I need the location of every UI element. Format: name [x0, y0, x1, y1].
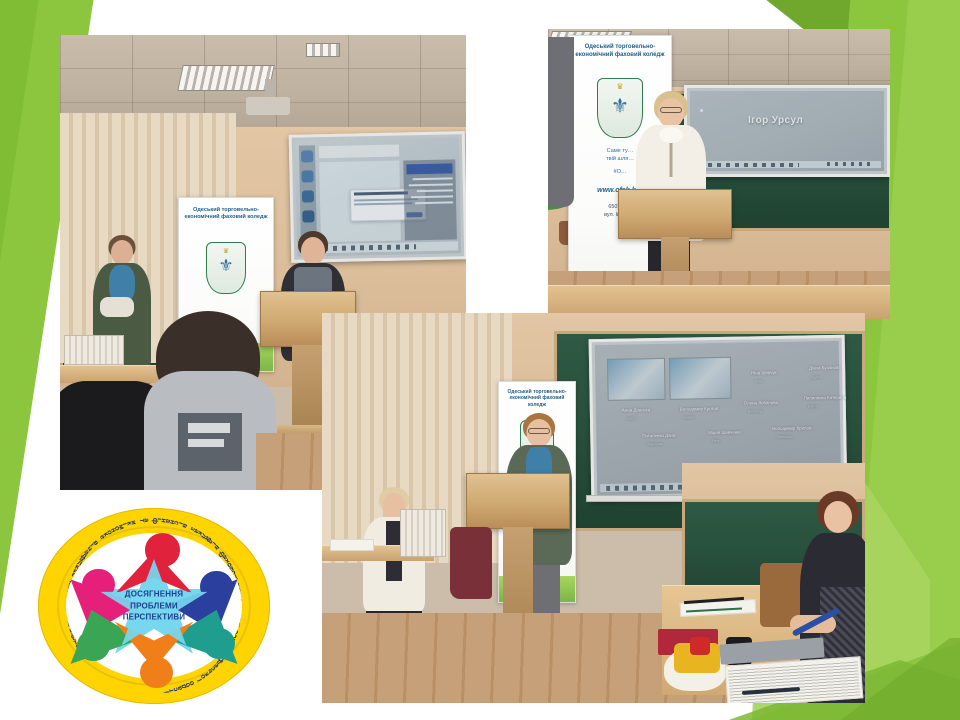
banner-title-photo3: Одеський торговельно-економічний фаховий… [502, 389, 572, 408]
photo-speaker-at-lectern-projection: Ігор Урсул Одеськ [548, 29, 890, 319]
banner-title-photo1: Одеський торговельно-економічний фаховий… [183, 207, 270, 221]
emblem-center-line-2: ПРОБЛЕМИ [123, 600, 186, 612]
emblem-center-text: ДОСЯГНЕННЯ ПРОБЛЕМИ ПЕРСПЕКТИВИ [123, 589, 186, 624]
photo-speaker-with-zoom-grid: Ніна Шевчук Діана Бузанова Київ Одеса Ан… [322, 313, 865, 703]
methodical-commission-emblem: Методична комісія викладачів економіки т… [38, 508, 270, 704]
emblem-center-line-1: ДОСЯГНЕННЯ [123, 589, 186, 601]
lectern-photo2 [618, 189, 732, 239]
emblem-center-line-3: ПЕРСПЕКТИВИ [123, 612, 186, 624]
banner-title-photo2: Одеський торговельно-економічний фаховий… [573, 44, 667, 59]
lectern-photo3 [466, 473, 570, 529]
presentation-slide: Одеський торговельно-економічний фаховий… [0, 0, 960, 720]
